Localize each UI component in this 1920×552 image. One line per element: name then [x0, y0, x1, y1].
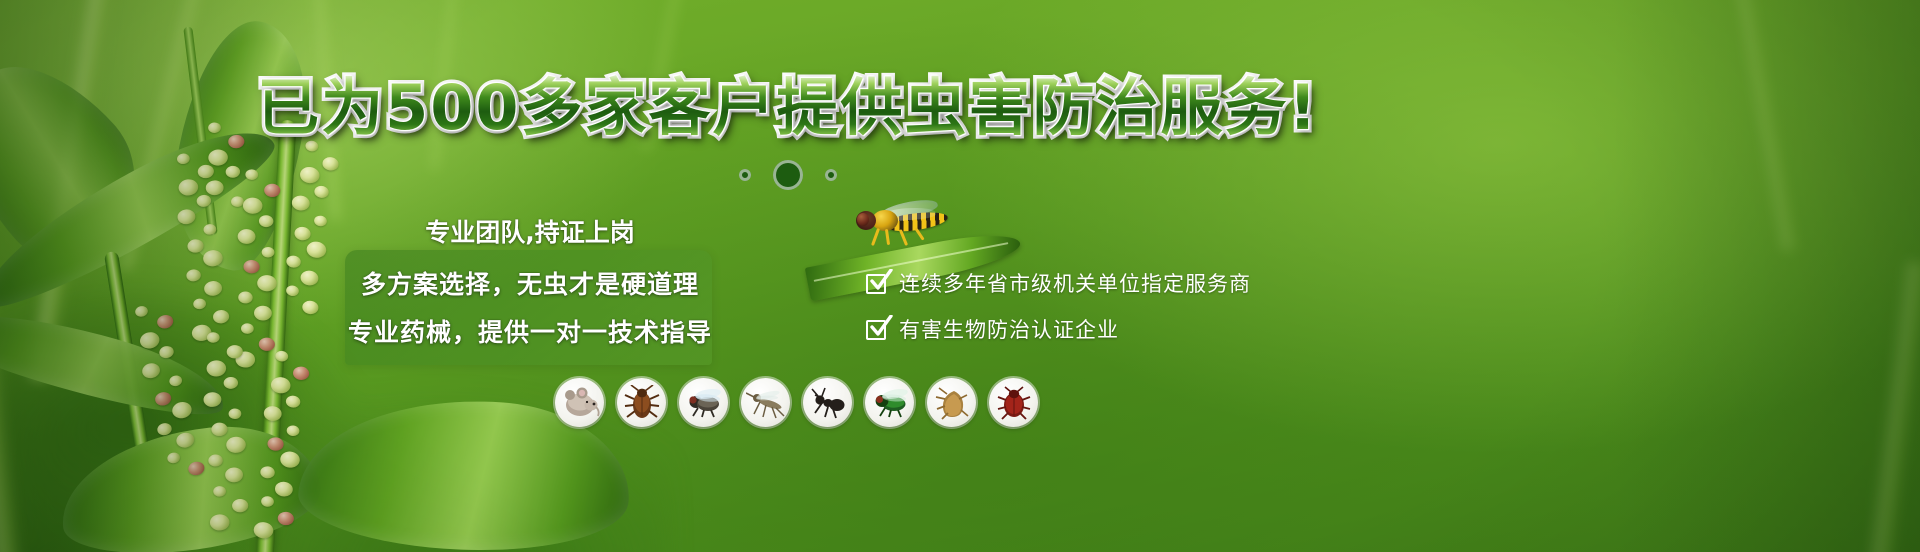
mouse-icon [555, 378, 604, 427]
fly-leg [899, 229, 908, 246]
checklist-label-1: 连续多年省市级机关单位指定服务商 [899, 272, 1251, 296]
mosquito-icon [741, 378, 790, 427]
blowfly-icon [865, 378, 914, 427]
cockroach-icon [617, 378, 666, 427]
page-title: 已为500多家客户提供虫害防治服务! [0, 74, 1576, 142]
fly-icon [679, 378, 728, 427]
dot-big-center-icon [773, 160, 803, 190]
ant-glyph [809, 386, 847, 420]
check-tick-icon [869, 269, 893, 291]
flea-glyph [934, 385, 970, 421]
bedbug-glyph [996, 386, 1032, 420]
ant-icon [803, 378, 852, 427]
feature-line-2: 多方案选择，无虫才是硬道理 [361, 270, 699, 300]
dot-small-left-icon [739, 169, 751, 181]
fly-glyph [684, 387, 724, 419]
feature-line-1: 专业团队,持证上岗 [425, 218, 635, 248]
decorative-dots [0, 160, 1576, 190]
check-tick-icon [869, 315, 893, 337]
feature-text-group: 专业团队,持证上岗 多方案选择，无虫才是硬道理 专业药械，提供一对一技术指导 [340, 218, 720, 348]
pest-icon-row [555, 378, 1038, 427]
checkbox-checked-icon [866, 274, 886, 294]
fly-eye [857, 213, 869, 226]
checkbox-checked-icon [866, 320, 886, 340]
promo-banner: 已为500多家客户提供虫害防治服务! 已为500多家客户提供虫害防治服务! 专业… [0, 0, 1920, 552]
fly-leg [885, 229, 890, 245]
fly-leg [871, 228, 880, 246]
list-item: 有害生物防治认证企业 [866, 318, 1426, 342]
dot-small-right-icon [825, 169, 837, 181]
flea-icon [927, 378, 976, 427]
bedbug-icon [989, 378, 1038, 427]
mouse-glyph [560, 386, 600, 420]
checklist-label-2: 有害生物防治认证企业 [899, 318, 1119, 342]
cockroach-glyph [623, 385, 661, 421]
hoverfly-icon [852, 201, 952, 245]
feature-line-3: 专业药械，提供一对一技术指导 [348, 318, 712, 348]
list-item: 连续多年省市级机关单位指定服务商 [866, 272, 1426, 296]
blowfly-glyph [870, 387, 910, 419]
feature-checklist: 连续多年省市级机关单位指定服务商 有害生物防治认证企业 [866, 272, 1426, 342]
mosquito-glyph [746, 386, 786, 420]
